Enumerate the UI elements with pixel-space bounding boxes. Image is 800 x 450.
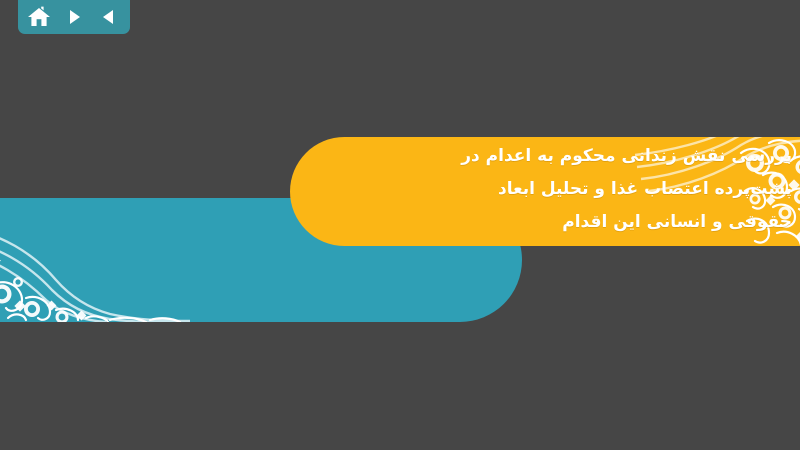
home-icon — [27, 6, 51, 28]
title-line-3: حقوقی و انسانی این اقدام — [372, 206, 792, 239]
slide-title: بررسی نقش زندانی محکوم به اعدام در پشت‌پ… — [372, 140, 792, 239]
triangle-left-icon — [99, 7, 119, 27]
previous-slide-button[interactable] — [94, 2, 124, 32]
slide-viewer: بررسی نقش زندانی محکوم به اعدام در پشت‌پ… — [0, 0, 800, 450]
title-line-1: بررسی نقش زندانی محکوم به اعدام در — [372, 140, 792, 173]
navigation-bar — [18, 0, 130, 34]
home-button[interactable] — [24, 2, 54, 32]
title-line-2: پشت‌پرده اعتصاب غذا و تحلیل ابعاد — [372, 173, 792, 206]
triangle-right-icon — [64, 7, 84, 27]
title-panel: بررسی نقش زندانی محکوم به اعدام در پشت‌پ… — [290, 137, 800, 246]
next-slide-button[interactable] — [59, 2, 89, 32]
arabesque-ornament-teal — [0, 198, 190, 322]
